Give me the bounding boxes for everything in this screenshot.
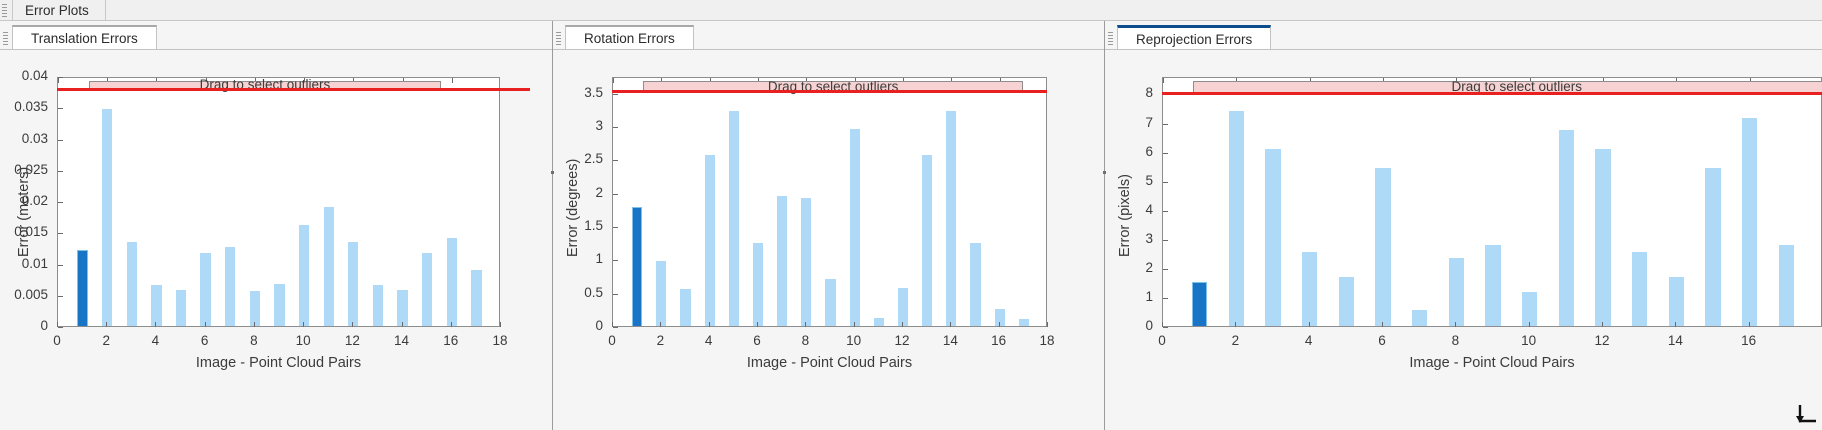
ytick-mark-1	[58, 296, 63, 297]
bar-6[interactable]	[1375, 168, 1390, 326]
ytick-label-8: 8	[1083, 85, 1153, 100]
bar-1[interactable]	[632, 207, 642, 326]
xtick-label-1: 2	[640, 333, 680, 348]
ytick-mark-4	[613, 194, 618, 195]
drag-grip-icon[interactable]	[1108, 32, 1113, 45]
plot-box-0	[57, 77, 500, 327]
ytick-label-7: 7	[1083, 115, 1153, 130]
panel-divider-2[interactable]	[1104, 21, 1105, 430]
bar-6[interactable]	[200, 253, 210, 326]
bar-2[interactable]	[656, 261, 666, 326]
chart-panel-0: Translation Errors00.0050.010.0150.020.0…	[0, 21, 553, 430]
tab-label: Reprojection Errors	[1136, 32, 1252, 47]
xtick-mark-5	[303, 322, 304, 327]
document-tabstrip: Error Plots	[0, 0, 1822, 21]
bar-12[interactable]	[1595, 149, 1610, 326]
xtick-label-0: 0	[1142, 333, 1182, 348]
ytick-mark-4	[58, 202, 63, 203]
xtick-label-6: 12	[882, 333, 922, 348]
tab-label: Translation Errors	[31, 31, 138, 46]
bar-2[interactable]	[1229, 111, 1244, 326]
bar-16[interactable]	[447, 238, 457, 326]
xtick-label-5: 10	[834, 333, 874, 348]
ytick-label-0: 0	[1083, 318, 1153, 333]
panel-tabstrip-baseline	[0, 49, 553, 50]
bar-17[interactable]	[1779, 245, 1794, 326]
ytick-mark-5	[58, 171, 63, 172]
ytick-label-2: 2	[1083, 260, 1153, 275]
ytick-mark-7	[1163, 124, 1168, 125]
x-axis-label-0: Image - Point Cloud Pairs	[57, 355, 500, 371]
document-tab-error-plots[interactable]: Error Plots	[12, 0, 106, 21]
bar-1[interactable]	[1192, 282, 1207, 326]
ytick-label-6: 3	[533, 118, 603, 133]
xtick-label-7: 14	[382, 333, 422, 348]
top-tick-0	[613, 78, 614, 83]
ytick-mark-5	[613, 160, 618, 161]
xtick-mark-8	[451, 322, 452, 327]
xtick-label-6: 12	[332, 333, 372, 348]
tab-label: Rotation Errors	[584, 31, 675, 46]
ytick-mark-1	[613, 294, 618, 295]
xtick-label-4: 8	[234, 333, 274, 348]
bar-5[interactable]	[729, 111, 739, 326]
bar-13[interactable]	[1632, 252, 1647, 326]
bar-3[interactable]	[680, 289, 690, 326]
ytick-mark-2	[613, 260, 618, 261]
ytick-label-1: 1	[1083, 289, 1153, 304]
xtick-mark-7	[950, 322, 951, 327]
xtick-mark-2	[155, 322, 156, 327]
xtick-mark-6	[902, 322, 903, 327]
ytick-mark-1	[1163, 298, 1168, 299]
bar-4[interactable]	[1302, 252, 1317, 326]
xtick-label-7: 14	[930, 333, 970, 348]
panel-tabstrip-baseline	[1105, 49, 1822, 50]
xtick-mark-3	[1382, 322, 1383, 327]
ytick-label-2: 0.01	[0, 256, 48, 271]
x-axis-label-1: Image - Point Cloud Pairs	[612, 355, 1047, 371]
ytick-mark-2	[58, 265, 63, 266]
ytick-mark-7	[613, 94, 618, 95]
xtick-mark-7	[1675, 322, 1676, 327]
chart-panel-2: Reprojection Errors012345678024681012141…	[1105, 21, 1822, 430]
ytick-mark-4	[1163, 211, 1168, 212]
bar-10[interactable]	[299, 225, 309, 326]
bar-9[interactable]	[1485, 245, 1500, 326]
ytick-label-1: 0.005	[0, 287, 48, 302]
xtick-label-0: 0	[37, 333, 77, 348]
bar-5[interactable]	[176, 290, 186, 326]
xtick-mark-7	[402, 322, 403, 327]
top-tick-0	[1163, 78, 1164, 83]
ytick-mark-5	[1163, 182, 1168, 183]
xtick-label-8: 16	[431, 333, 471, 348]
panel-tabstrip-1: Rotation Errors	[553, 21, 1105, 50]
xtick-mark-6	[1602, 322, 1603, 327]
ytick-label-0: 0	[533, 318, 603, 333]
xtick-mark-6	[352, 322, 353, 327]
drag-grip-icon[interactable]	[2, 4, 7, 17]
bar-5[interactable]	[1339, 277, 1354, 326]
plot-inner-1	[613, 78, 1046, 326]
bar-14[interactable]	[946, 111, 956, 326]
bar-9[interactable]	[274, 284, 284, 327]
ytick-mark-6	[1163, 153, 1168, 154]
xtick-mark-3	[757, 322, 758, 327]
xtick-label-2: 4	[135, 333, 175, 348]
plot-inner-0	[58, 78, 499, 326]
resize-cursor-icon	[1794, 402, 1820, 428]
xtick-label-8: 16	[1729, 333, 1769, 348]
xtick-mark-8	[1749, 322, 1750, 327]
bar-14[interactable]	[397, 290, 407, 326]
bar-13[interactable]	[922, 155, 932, 326]
bar-16[interactable]	[1742, 118, 1757, 326]
xtick-mark-8	[999, 322, 1000, 327]
plot-box-2	[1162, 77, 1822, 327]
xtick-mark-2	[1309, 322, 1310, 327]
ytick-mark-7	[58, 108, 63, 109]
ytick-label-1: 0.5	[533, 285, 603, 300]
bar-10[interactable]	[1522, 292, 1537, 326]
bar-17[interactable]	[1019, 319, 1029, 326]
y-axis-label-0: Error (meters)	[16, 167, 32, 257]
chart-panel-1: Rotation Errors00.511.522.533.5024681012…	[553, 21, 1105, 430]
bar-8[interactable]	[250, 291, 260, 326]
xtick-label-1: 2	[1215, 333, 1255, 348]
bar-14[interactable]	[1669, 277, 1684, 326]
drag-grip-icon[interactable]	[3, 32, 8, 45]
tab-rotation-errors[interactable]: Rotation Errors	[565, 25, 694, 50]
xtick-label-3: 6	[737, 333, 777, 348]
bar-12[interactable]	[348, 242, 358, 326]
top-tick-8	[452, 78, 453, 83]
xtick-mark-9	[1047, 322, 1048, 327]
xtick-mark-0	[1162, 322, 1163, 327]
bar-3[interactable]	[127, 242, 137, 326]
xtick-label-0: 0	[592, 333, 632, 348]
bar-10[interactable]	[850, 129, 860, 326]
bar-11[interactable]	[324, 207, 334, 326]
xtick-mark-2	[709, 322, 710, 327]
outlier-threshold-line-0[interactable]	[57, 88, 530, 91]
bar-6[interactable]	[753, 243, 763, 326]
ytick-mark-3	[58, 233, 63, 234]
bar-17[interactable]	[471, 270, 481, 326]
top-tick-0	[58, 78, 59, 83]
ytick-label-7: 3.5	[533, 85, 603, 100]
ytick-label-8: 0.04	[0, 68, 48, 83]
xtick-mark-4	[254, 322, 255, 327]
ytick-mark-6	[58, 140, 63, 141]
xtick-label-9: 18	[480, 333, 520, 348]
drag-grip-icon[interactable]	[556, 32, 561, 45]
bar-4[interactable]	[705, 155, 715, 326]
ytick-mark-0	[1163, 327, 1168, 328]
xtick-mark-0	[612, 322, 613, 327]
outlier-threshold-line-1[interactable]	[612, 90, 1047, 93]
plot-inner-2	[1163, 78, 1821, 326]
xtick-label-2: 4	[689, 333, 729, 348]
error-plots-window: Error Plots Translation Errors00.0050.01…	[0, 0, 1822, 430]
bar-15[interactable]	[422, 253, 432, 326]
panel-tabstrip-0: Translation Errors	[0, 21, 553, 50]
xtick-label-2: 4	[1289, 333, 1329, 348]
bar-11[interactable]	[874, 318, 884, 326]
bar-8[interactable]	[801, 198, 811, 326]
y-axis-label-2: Error (pixels)	[1117, 174, 1133, 257]
bar-2[interactable]	[102, 109, 112, 326]
xtick-mark-4	[805, 322, 806, 327]
xtick-mark-4	[1455, 322, 1456, 327]
ytick-label-7: 0.035	[0, 99, 48, 114]
panel-tabstrip-2: Reprojection Errors	[1105, 21, 1822, 50]
xtick-label-4: 8	[785, 333, 825, 348]
panel-divider-1[interactable]	[552, 21, 553, 430]
xtick-mark-0	[57, 322, 58, 327]
xtick-mark-3	[205, 322, 206, 327]
panel-tabstrip-baseline	[553, 49, 1105, 50]
panel-divider-handle[interactable]	[1103, 171, 1106, 174]
xtick-label-6: 12	[1582, 333, 1622, 348]
xtick-label-5: 10	[283, 333, 323, 348]
ytick-mark-8	[1163, 94, 1168, 95]
bar-11[interactable]	[1559, 130, 1574, 326]
bar-8[interactable]	[1449, 258, 1464, 326]
ytick-mark-0	[58, 327, 63, 328]
panel-divider-handle[interactable]	[551, 171, 554, 174]
ytick-mark-6	[613, 127, 618, 128]
xtick-mark-1	[106, 322, 107, 327]
ytick-mark-0	[613, 327, 618, 328]
xtick-mark-1	[1235, 322, 1236, 327]
document-tab-label: Error Plots	[25, 3, 89, 18]
bar-15[interactable]	[1705, 168, 1720, 326]
xtick-mark-5	[854, 322, 855, 327]
xtick-label-7: 14	[1655, 333, 1695, 348]
xtick-label-1: 2	[86, 333, 126, 348]
ytick-label-0: 0	[0, 318, 48, 333]
xtick-label-5: 10	[1509, 333, 1549, 348]
xtick-mark-5	[1529, 322, 1530, 327]
tab-translation-errors[interactable]: Translation Errors	[12, 25, 157, 50]
bar-3[interactable]	[1265, 149, 1280, 326]
xtick-label-3: 6	[185, 333, 225, 348]
bar-12[interactable]	[898, 288, 908, 326]
y-axis-label-1: Error (degrees)	[565, 159, 581, 257]
ytick-mark-8	[58, 77, 63, 78]
outlier-threshold-line-2[interactable]	[1162, 92, 1822, 95]
bar-9[interactable]	[825, 279, 835, 326]
ytick-mark-2	[1163, 269, 1168, 270]
bar-4[interactable]	[151, 285, 161, 326]
ytick-label-6: 6	[1083, 144, 1153, 159]
xtick-label-4: 8	[1435, 333, 1475, 348]
bar-7[interactable]	[1412, 310, 1427, 326]
tab-reprojection-errors[interactable]: Reprojection Errors	[1117, 25, 1271, 50]
xtick-label-9: 18	[1027, 333, 1067, 348]
bar-1[interactable]	[77, 250, 87, 326]
xtick-label-8: 16	[979, 333, 1019, 348]
bar-7[interactable]	[225, 247, 235, 326]
ytick-mark-3	[1163, 240, 1168, 241]
bar-13[interactable]	[373, 285, 383, 326]
bar-15[interactable]	[970, 243, 980, 326]
xtick-mark-1	[660, 322, 661, 327]
ytick-mark-3	[613, 227, 618, 228]
bar-7[interactable]	[777, 196, 787, 326]
x-axis-label-2: Image - Point Cloud Pairs	[1162, 355, 1822, 371]
ytick-label-6: 0.03	[0, 131, 48, 146]
plot-box-1	[612, 77, 1047, 327]
xtick-label-3: 6	[1362, 333, 1402, 348]
xtick-mark-9	[500, 322, 501, 327]
